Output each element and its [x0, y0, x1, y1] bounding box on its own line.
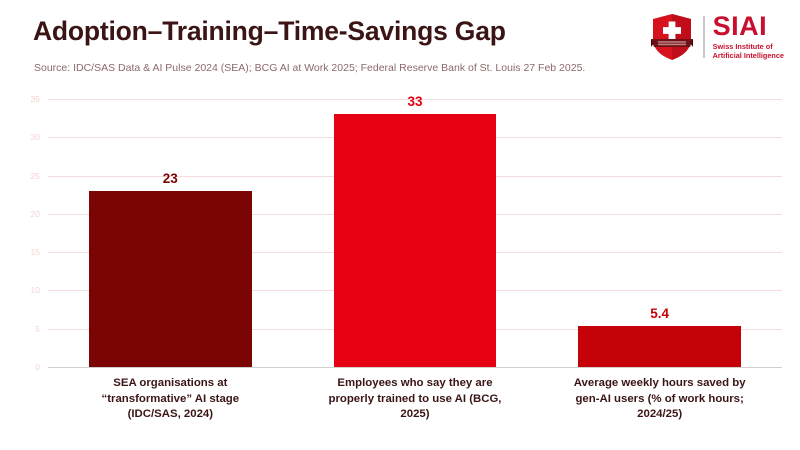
y-axis-tick-label: 35: [0, 94, 40, 104]
bar[interactable]: 33: [334, 114, 497, 367]
slide-root: Adoption–Training–Time-Savings Gap Sourc…: [0, 0, 800, 450]
plot-area: 0510152025303523335.4: [48, 99, 782, 367]
bar-value-label: 23: [89, 171, 252, 186]
y-axis-tick-label: 30: [0, 132, 40, 142]
bar-value-label: 5.4: [578, 306, 741, 321]
bar[interactable]: 23: [89, 191, 252, 367]
logo-tagline-line2: Artificial Intelligence: [713, 51, 784, 60]
y-axis-tick-label: 25: [0, 171, 40, 181]
page-title: Adoption–Training–Time-Savings Gap: [33, 16, 506, 47]
x-axis-category-label: Average weekly hours saved bygen-AI user…: [537, 376, 782, 423]
y-axis-tick-label: 15: [0, 247, 40, 257]
bar-chart: 0510152025303523335.4 SEA organisations …: [0, 88, 800, 450]
x-axis-label-line: properly trained to use AI (BCG,: [328, 393, 501, 405]
y-axis-tick-label: 5: [0, 324, 40, 334]
logo-tagline: Swiss Institute of Artificial Intelligen…: [713, 43, 784, 61]
x-axis-label-line: SEA organisations at: [113, 377, 227, 389]
y-axis-tick-label: 20: [0, 209, 40, 219]
bar-value-label: 33: [334, 94, 497, 109]
y-axis-tick-label: 0: [0, 362, 40, 372]
siai-logo: SIAI Swiss Institute of Artificial Intel…: [649, 12, 784, 62]
x-axis-labels: SEA organisations at“transformative” AI …: [48, 376, 782, 423]
x-axis-label-line: gen-AI users (% of work hours;: [575, 393, 743, 405]
x-axis-label-line: “transformative” AI stage: [102, 393, 240, 405]
source-note: Source: IDC/SAS Data & AI Pulse 2024 (SE…: [34, 62, 585, 74]
gridline: [48, 367, 782, 368]
header: Adoption–Training–Time-Savings Gap Sourc…: [0, 0, 800, 86]
x-axis-category-label: SEA organisations at“transformative” AI …: [48, 376, 293, 423]
logo-wordmark: SIAI Swiss Institute of Artificial Intel…: [713, 13, 784, 61]
logo-tagline-line1: Swiss Institute of: [713, 42, 773, 51]
logo-name: SIAI: [713, 13, 784, 40]
x-axis-label-line: Average weekly hours saved by: [574, 377, 746, 389]
x-axis-label-line: Employees who say they are: [337, 377, 492, 389]
x-axis-label-line: 2025): [400, 408, 429, 420]
logo-divider: [703, 16, 705, 58]
x-axis-label-line: (IDC/SAS, 2024): [128, 408, 213, 420]
x-axis-category-label: Employees who say they areproperly train…: [293, 376, 538, 423]
x-axis-label-line: 2024/25): [637, 408, 682, 420]
y-axis-tick-label: 10: [0, 285, 40, 295]
swiss-shield-icon: [649, 13, 695, 61]
bar[interactable]: 5.4: [578, 326, 741, 367]
